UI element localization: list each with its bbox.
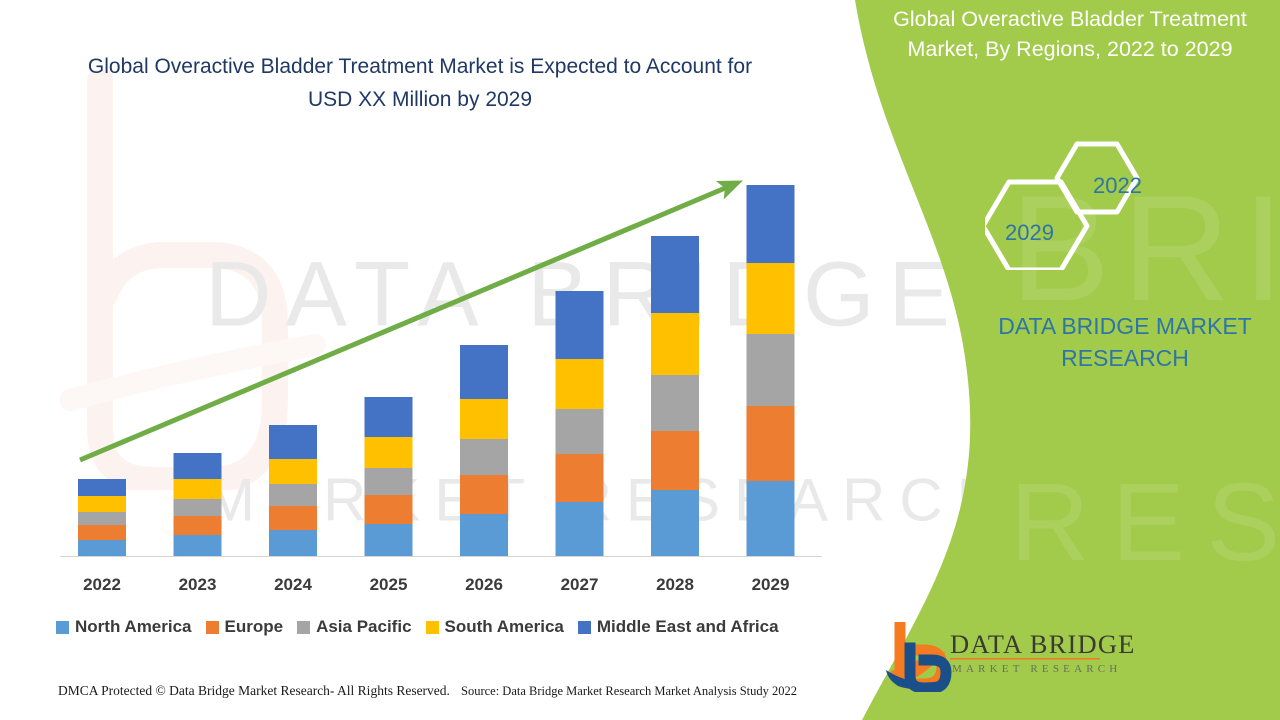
hex-label-2022: 2022 — [1093, 173, 1142, 199]
hexagon-badges: 2029 2022 — [985, 140, 1185, 270]
panel-title: Global Overactive Bladder Treatment Mark… — [868, 4, 1272, 64]
brand-name: DATA BRIDGE MARKET RESEARCH — [960, 310, 1280, 374]
svg-text:RES: RES — [1010, 461, 1280, 584]
infographic-canvas: DATA BRIDGE MARKET RESEARCH Global Overa… — [0, 0, 1280, 720]
hexagon-shapes-icon — [985, 140, 1185, 270]
logo-primary-text: DATA BRIDGE — [950, 629, 1136, 660]
data-bridge-logo: DATA BRIDGE MARKET RESEARCH — [884, 622, 1114, 692]
hex-label-2029: 2029 — [1005, 220, 1054, 246]
logo-secondary-text: MARKET RESEARCH — [952, 663, 1121, 675]
